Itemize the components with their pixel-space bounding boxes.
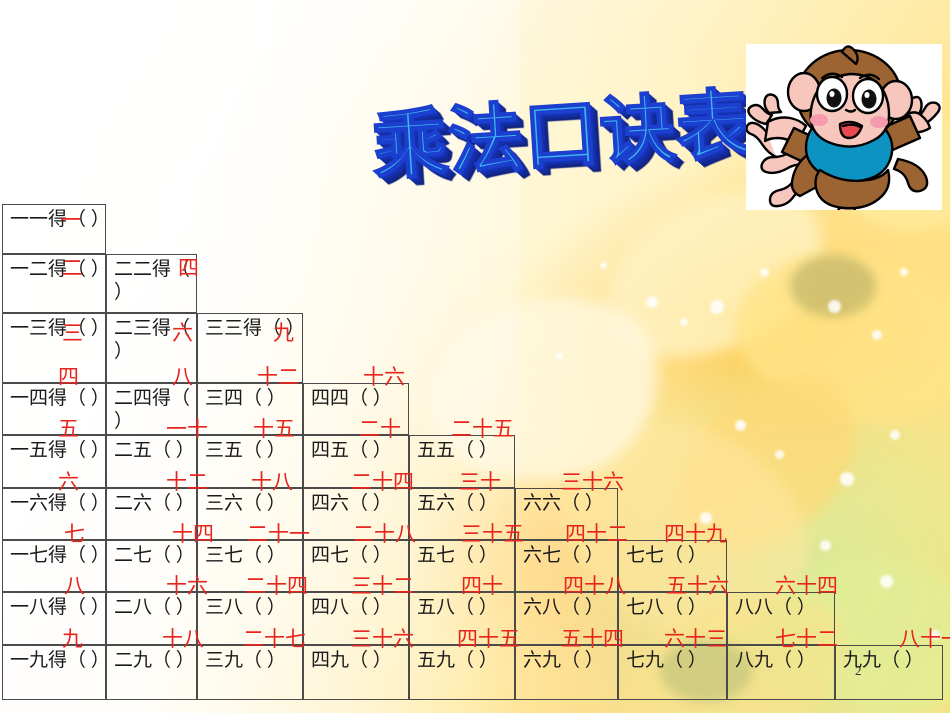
table-cell: 三九（ ） xyxy=(197,645,303,700)
formula-text: 五九（ ） xyxy=(417,649,510,672)
formula-text: 一五得（ ） xyxy=(10,439,101,462)
answer-text: 三 xyxy=(62,323,83,344)
formula-text: 七八（ ） xyxy=(626,596,722,619)
answer-text: 三十五 xyxy=(461,524,524,545)
formula-text: 二九（ ） xyxy=(114,649,192,672)
formula-text: 三九（ ） xyxy=(205,649,298,672)
answer-text: 一 xyxy=(60,210,81,231)
formula-text: 六九（ ） xyxy=(523,649,613,672)
multiplication-table: 一一得（ ）一一二得（ ）二二二得（ ）四一三得（ ）三二三得（ ）六三三得（ … xyxy=(0,0,950,713)
table-cell: 一一得（ ） xyxy=(2,204,106,254)
table-cell: 七九（ ） xyxy=(618,645,727,700)
answer-text: 二十五 xyxy=(451,419,514,440)
formula-text: 一三得（ ） xyxy=(10,317,101,340)
answer-text: 四 xyxy=(58,367,79,388)
answer-text: 五十六 xyxy=(666,576,729,597)
answer-text: 四 xyxy=(178,258,199,279)
formula-text: 八八（ ） xyxy=(735,596,830,619)
table-cell: 六九（ ） xyxy=(515,645,618,700)
answer-text: 三十二 xyxy=(351,576,414,597)
formula-text: 九九（ ） xyxy=(843,649,938,672)
answer-text: 十四 xyxy=(172,524,214,545)
formula-text: 五八（ ） xyxy=(417,596,510,619)
formula-text: 三八（ ） xyxy=(205,596,298,619)
formula-text: 六七（ ） xyxy=(523,544,613,567)
table-cell: 一七得（ ） xyxy=(2,540,106,592)
answer-text: 四十八 xyxy=(563,576,626,597)
answer-text: 六十四 xyxy=(775,576,838,597)
formula-text: 四七（ ） xyxy=(311,544,404,567)
formula-text: 二五（ ） xyxy=(114,439,192,462)
answer-text: 八 xyxy=(172,367,193,388)
answer-text: 七 xyxy=(64,524,85,545)
answer-text: 五十四 xyxy=(561,629,624,650)
formula-text: 四八（ ） xyxy=(311,596,404,619)
table-cell: 二九（ ） xyxy=(106,645,197,700)
answer-text: 三十六 xyxy=(351,629,414,650)
formula-text: 五五（ ） xyxy=(417,439,510,462)
answer-text: 十八 xyxy=(251,472,293,493)
formula-text: 六八（ ） xyxy=(523,596,613,619)
answer-text: 三十六 xyxy=(561,472,624,493)
answer-text: 四十二 xyxy=(565,524,628,545)
formula-text: 三四（ ） xyxy=(205,387,298,410)
answer-text: 十八 xyxy=(162,629,204,650)
answer-text: 二十八 xyxy=(353,524,416,545)
table-cell: 一四得（ ） xyxy=(2,383,106,435)
answer-text: 十二 xyxy=(257,367,299,388)
answer-text: 六十三 xyxy=(664,629,727,650)
answer-text: 二十七 xyxy=(243,629,306,650)
answer-text: 十五 xyxy=(253,419,295,440)
answer-text: 六 xyxy=(58,472,79,493)
answer-text: 九 xyxy=(273,323,294,344)
table-cell: 一九得（ ） xyxy=(2,645,106,700)
formula-text: 三五（ ） xyxy=(205,439,298,462)
formula-text: 四五（ ） xyxy=(311,439,404,462)
table-cell: 五九（ ） xyxy=(409,645,515,700)
formula-text: 六六（ ） xyxy=(523,492,613,515)
answer-text: 二十 xyxy=(359,419,401,440)
answer-text: 十六 xyxy=(166,576,208,597)
formula-text: 一六得（ ） xyxy=(10,492,101,515)
formula-text: 一九得（ ） xyxy=(10,649,101,672)
formula-text: 一七得（ ） xyxy=(10,544,101,567)
answer-text: 四十五 xyxy=(457,629,520,650)
formula-text: 三七（ ） xyxy=(205,544,298,567)
answer-text: 二十四 xyxy=(245,576,308,597)
formula-text: 四九（ ） xyxy=(311,649,404,672)
answer-text: 一十 xyxy=(166,419,208,440)
formula-text: 七七（ ） xyxy=(626,544,722,567)
formula-text: 二六（ ） xyxy=(114,492,192,515)
formula-text: 七九（ ） xyxy=(626,649,722,672)
answer-text: 六 xyxy=(172,323,193,344)
table-cell: 一五得（ ） xyxy=(2,435,106,488)
formula-text: 五七（ ） xyxy=(417,544,510,567)
answer-text: 三十 xyxy=(459,472,501,493)
formula-text: 一二得（ ） xyxy=(10,258,101,281)
presentation-slide: 乘法口诀表 xyxy=(0,0,950,713)
table-cell: 一二得（ ） xyxy=(2,254,106,313)
formula-text: 八九（ ） xyxy=(735,649,830,672)
formula-text: 一一得（ ） xyxy=(10,208,101,231)
formula-text: 一四得（ ） xyxy=(10,387,101,410)
formula-text: 四四（ ） xyxy=(311,387,404,410)
table-cell: 九九（ ） xyxy=(835,645,943,700)
table-cell: 一六得（ ） xyxy=(2,488,106,540)
table-cell: 八九（ ） xyxy=(727,645,835,700)
answer-text: 五 xyxy=(58,419,79,440)
formula-text: 二七（ ） xyxy=(114,544,192,567)
answer-text: 二十一 xyxy=(247,524,310,545)
answer-text: 二 xyxy=(62,258,83,279)
answer-text: 十六 xyxy=(363,367,405,388)
answer-text: 七十二 xyxy=(775,629,838,650)
formula-text: 一八得（ ） xyxy=(10,596,101,619)
formula-text: 二八（ ） xyxy=(114,596,192,619)
formula-text: 三六（ ） xyxy=(205,492,298,515)
answer-text: 九 xyxy=(62,629,83,650)
answer-text: 四十 xyxy=(461,576,503,597)
table-cell: 四九（ ） xyxy=(303,645,409,700)
answer-text: 四十九 xyxy=(664,524,727,545)
table-cell: 一三得（ ） xyxy=(2,313,106,383)
answer-text: 八 xyxy=(64,576,85,597)
answer-text: 十二 xyxy=(166,472,208,493)
answer-text: 八十一 xyxy=(899,629,950,650)
formula-text: 五六（ ） xyxy=(417,492,510,515)
table-cell: 一八得（ ） xyxy=(2,592,106,645)
formula-text: 四六（ ） xyxy=(311,492,404,515)
answer-text: 二十四 xyxy=(351,472,414,493)
